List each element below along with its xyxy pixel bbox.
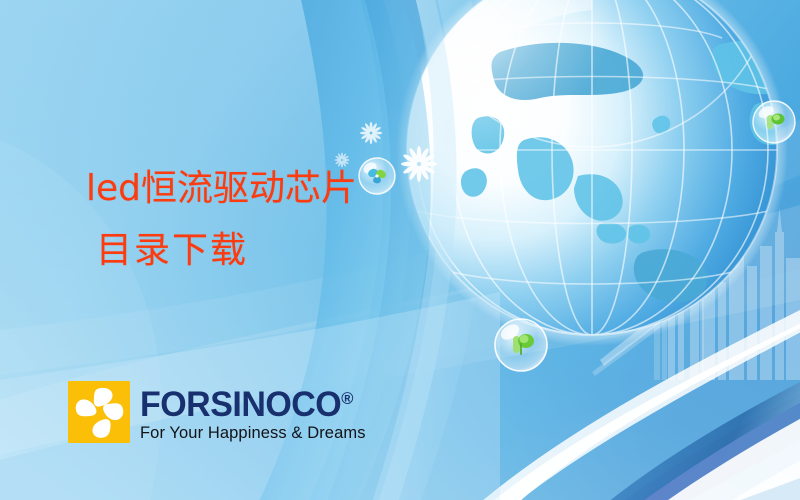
promo-banner: led恒流驱动芯片 目录下载 FORSINOCO® For Your Happi… [0, 0, 800, 500]
flower-sparkle [360, 122, 382, 144]
ribbon-group [460, 300, 800, 500]
light-streak [600, 250, 744, 366]
forsinoco-pinwheel-mark [68, 381, 130, 443]
headline-line-2: 目录下载 [0, 220, 420, 282]
white-swoosh-ribbon [700, 450, 800, 500]
globe-continents-shadow [492, 43, 708, 303]
city-skyline-silhouette [668, 208, 800, 380]
globe-gridlines [416, 0, 768, 335]
blue-ribbon [586, 372, 800, 500]
logo-text-block: FORSINOCO® For Your Happiness & Dreams [140, 381, 366, 443]
white-swoosh-ribbon [460, 300, 800, 500]
white-swoosh-ribbon [640, 408, 800, 500]
purple-ribbon [600, 384, 800, 500]
headline-block: led恒流驱动芯片 目录下载 [0, 158, 420, 282]
logo-wordmark: FORSINOCO® [140, 382, 359, 422]
globe-gridlines [407, 0, 777, 284]
sprout-bubble [495, 319, 547, 371]
white-swoosh-ribbon-thin [470, 314, 800, 500]
sprout-bubble [753, 101, 795, 143]
headline-line-1: led恒流驱动芯片 [0, 158, 420, 220]
city-skyline-silhouette [654, 300, 704, 380]
company-logo: FORSINOCO® For Your Happiness & Dreams [68, 381, 366, 443]
registered-trademark-symbol: ® [341, 389, 353, 408]
logo-wordmark-text: FORSINOCO [140, 385, 341, 424]
logo-tagline: For Your Happiness & Dreams [140, 423, 366, 443]
light-streak [592, 262, 739, 376]
pinwheel-petals-icon [68, 381, 130, 443]
globe-continents [461, 41, 792, 303]
